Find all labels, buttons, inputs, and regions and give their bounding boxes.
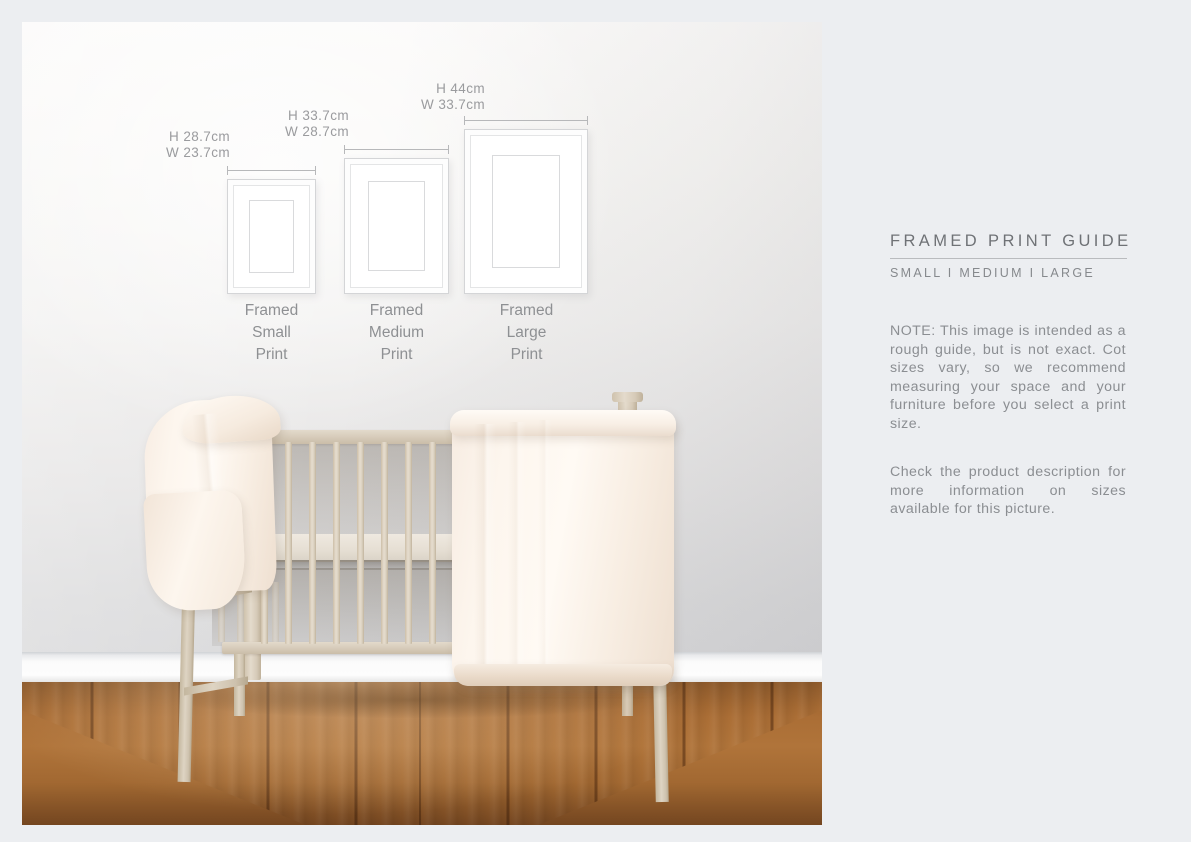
blanket-right-crease-3 [538, 420, 552, 674]
note-paragraph-secondary: Check the product description for more i… [890, 463, 1126, 519]
cot-slat [405, 442, 412, 644]
note-paragraph: NOTE: This image is intended as a rough … [890, 322, 1126, 433]
page-root: H 28.7cm W 23.7cm Framed Small Print [0, 0, 1191, 842]
blanket-right-crease-2 [508, 422, 526, 674]
cot-leg-front-left [178, 582, 196, 782]
blanket-left-tail [143, 490, 247, 613]
blanket-right-crease-1 [474, 424, 496, 674]
cot-slat [381, 442, 388, 644]
cot-slat [285, 442, 292, 644]
cot-far-slat [272, 582, 279, 642]
cot-slat [429, 442, 436, 644]
cot-slat [357, 442, 364, 644]
blanket-right-hem [454, 664, 672, 686]
room-photo: H 28.7cm W 23.7cm Framed Small Print [22, 22, 822, 825]
cot-post-right-cap [612, 392, 643, 402]
cot-slat [333, 442, 340, 644]
title-divider [890, 258, 1127, 259]
cot-slat [309, 442, 316, 644]
page-subtitle: SMALL I MEDIUM I LARGE [890, 266, 1095, 280]
baby-cot [22, 22, 822, 825]
page-title: FRAMED PRINT GUIDE [890, 232, 1132, 251]
info-panel: FRAMED PRINT GUIDE SMALL I MEDIUM I LARG… [890, 0, 1150, 842]
